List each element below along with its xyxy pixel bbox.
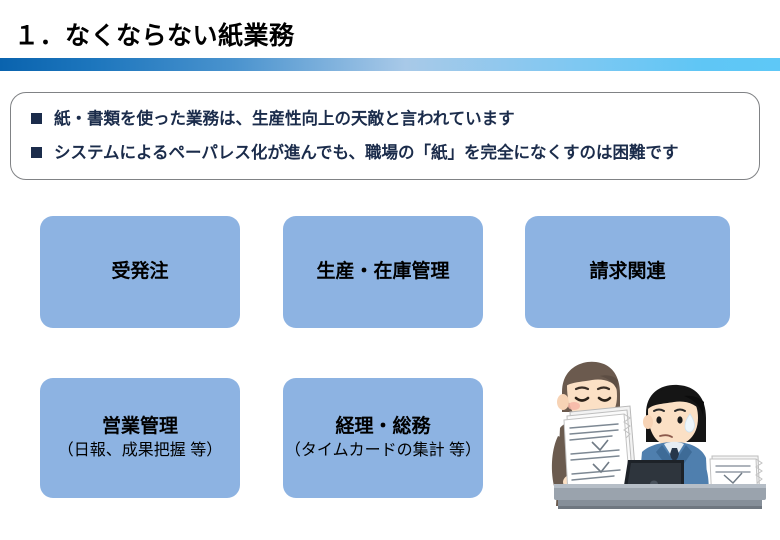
- office-workers-illustration: [534, 356, 766, 514]
- page-title: １．なくならない紙業務: [14, 16, 295, 52]
- category-subtitle: （日報、成果把握 等）: [58, 441, 222, 461]
- bullet-item-2: システムによるペーパレス化が進んでも、 職場の「紙」を完全になくすのは困難です: [31, 139, 679, 163]
- bullet-item-2-highlight: 職場の「紙」を完全になくすのは困難です: [365, 139, 679, 163]
- category-title: 受発注: [111, 260, 168, 284]
- category-box-seisan-zaiko[interactable]: 生産・在庫管理: [283, 216, 483, 328]
- category-box-juhatchu[interactable]: 受発注: [40, 216, 240, 328]
- bullet-item-1: 紙・書類を使った業務は、生産性向上の天敵と言われています: [31, 105, 515, 129]
- category-subtitle: （タイムカードの集計 等）: [285, 441, 481, 461]
- square-bullet-icon: [31, 147, 42, 158]
- category-box-eigyo-kanri[interactable]: 営業管理 （日報、成果把握 等）: [40, 378, 240, 498]
- category-box-seikyu[interactable]: 請求関連: [525, 216, 730, 328]
- title-divider-bar: [0, 58, 780, 71]
- category-title: 請求関連: [589, 260, 665, 284]
- square-bullet-icon: [31, 113, 42, 124]
- category-box-keiri-soumu[interactable]: 経理・総務 （タイムカードの集計 等）: [283, 378, 483, 498]
- callout-box: 紙・書類を使った業務は、生産性向上の天敵と言われています システムによるペーパレ…: [10, 92, 760, 180]
- bullet-item-2-label: システムによるペーパレス化が進んでも、: [54, 139, 365, 163]
- bullet-item-1-label: 紙・書類を使った業務は、生産性向上の天敵と言われています: [54, 105, 515, 129]
- category-title: 経理・総務: [335, 415, 430, 439]
- category-title: 生産・在庫管理: [316, 260, 449, 284]
- category-title: 営業管理: [102, 415, 178, 439]
